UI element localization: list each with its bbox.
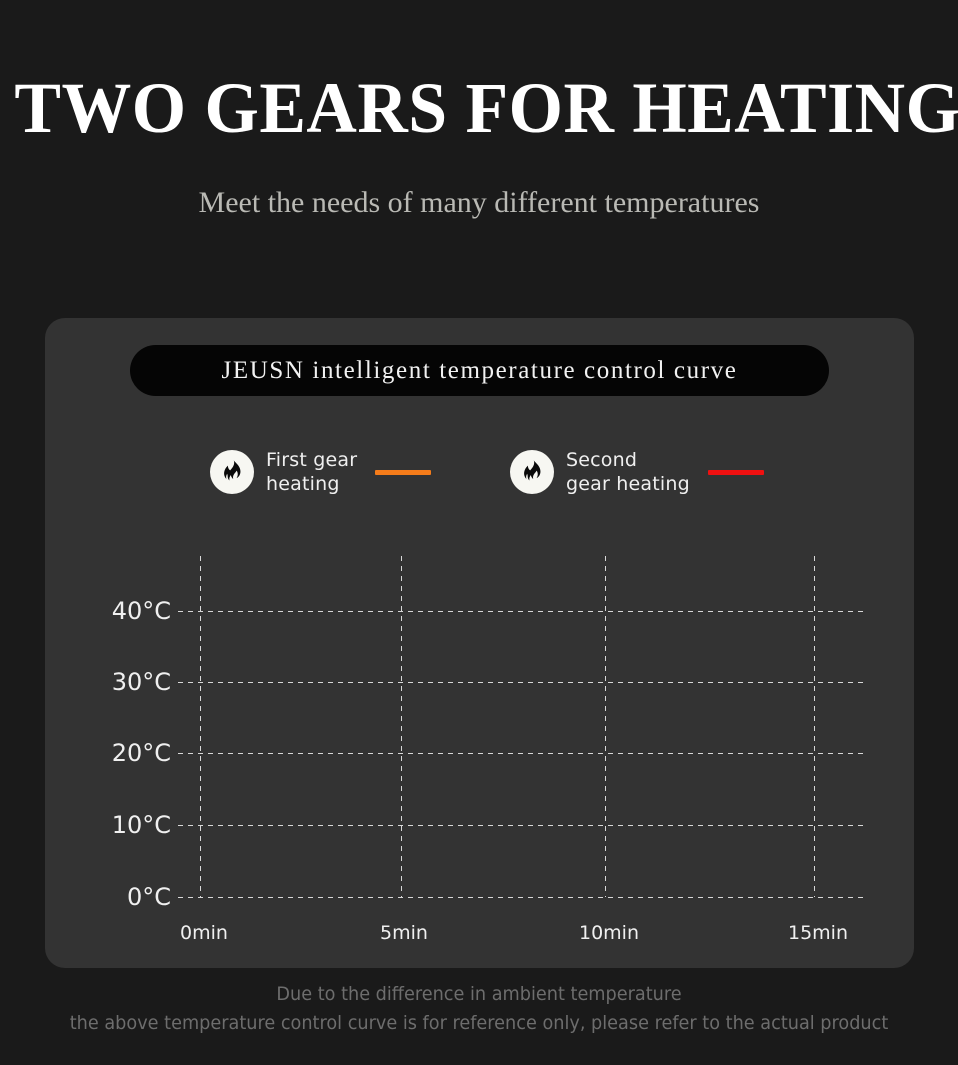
chart-card: JEUSN intelligent temperature control cu…	[45, 318, 914, 968]
y-axis-tick-10: 10°C	[93, 811, 171, 839]
chart-title-text: JEUSN intelligent temperature control cu…	[222, 357, 738, 385]
footer-line-1: Due to the difference in ambient tempera…	[34, 980, 925, 1009]
chart-title-pill: JEUSN intelligent temperature control cu…	[130, 345, 829, 396]
x-axis-tick-15min: 15min	[788, 922, 848, 944]
legend-item-first-gear[interactable]: First gear heating	[210, 448, 431, 496]
chart-plot-area: 40°C 30°C 20°C 10°C 0°C 0min 5min 10min …	[45, 318, 914, 968]
chart-gridlines	[45, 318, 914, 968]
legend-label-second-gear: Second gear heating	[566, 448, 690, 496]
y-axis-tick-40: 40°C	[93, 597, 171, 625]
chart-legend: First gear heating Second gear heating	[45, 448, 914, 518]
x-axis-tick-10min: 10min	[579, 922, 639, 944]
flame-icon	[210, 450, 254, 494]
footer-disclaimer: Due to the difference in ambient tempera…	[0, 980, 958, 1038]
page-header: TWO GEARS FOR HEATING Meet the needs of …	[0, 0, 958, 218]
legend-swatch-first-gear	[375, 470, 431, 475]
footer-line-2: the above temperature control curve is f…	[34, 1009, 925, 1038]
flame-icon	[510, 450, 554, 494]
legend-swatch-second-gear	[708, 470, 764, 475]
page-title: TWO GEARS FOR HEATING	[14, 72, 943, 144]
y-axis-tick-0: 0°C	[93, 883, 171, 911]
legend-item-second-gear[interactable]: Second gear heating	[510, 448, 764, 496]
y-axis-tick-30: 30°C	[93, 668, 171, 696]
x-axis-tick-5min: 5min	[380, 922, 428, 944]
x-axis-tick-0min: 0min	[180, 922, 228, 944]
page-subtitle: Meet the needs of many different tempera…	[0, 188, 958, 218]
legend-label-first-gear: First gear heating	[266, 448, 357, 496]
y-axis-tick-20: 20°C	[93, 739, 171, 767]
